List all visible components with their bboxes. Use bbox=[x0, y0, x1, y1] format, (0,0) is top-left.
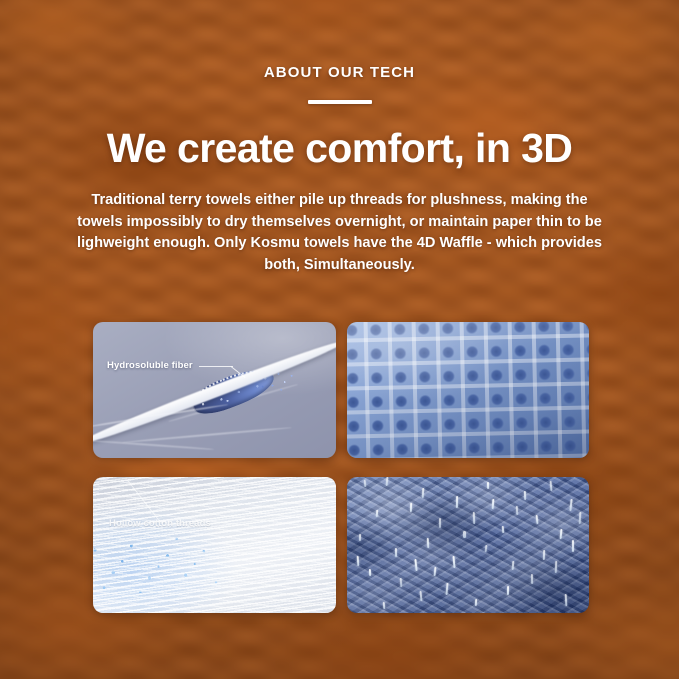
tile-hydrosoluble-fiber[interactable]: Hydrosoluble fiber bbox=[93, 322, 336, 458]
fiber-tuft bbox=[434, 567, 437, 576]
fiber-tuft bbox=[550, 481, 553, 492]
fiber-tuft bbox=[410, 503, 413, 512]
page-title: We create comfort, in 3D bbox=[0, 125, 679, 172]
fiber-tuft bbox=[560, 529, 563, 540]
tile-microfiber-tufts[interactable] bbox=[347, 477, 589, 613]
fiber-tuft bbox=[385, 477, 388, 486]
fiber-tuft bbox=[531, 574, 534, 584]
fiber-tuft bbox=[511, 561, 514, 570]
fiber-tuft bbox=[419, 591, 422, 602]
fiber-tuft bbox=[414, 559, 418, 571]
fiber-tuft bbox=[475, 599, 478, 606]
fiber-tuft bbox=[543, 550, 546, 560]
fiber-tuft bbox=[463, 531, 465, 538]
about-our-tech-section: ABOUT OUR TECH We create comfort, in 3D … bbox=[0, 0, 679, 679]
section-eyebrow: ABOUT OUR TECH bbox=[0, 64, 679, 81]
fiber-tuft bbox=[356, 556, 359, 567]
fiber-tuft bbox=[535, 515, 538, 524]
fiber-tuft bbox=[579, 512, 582, 524]
fiber-tuft bbox=[456, 496, 459, 508]
fiber-tuft bbox=[516, 505, 519, 514]
fiber-tuft bbox=[427, 538, 430, 549]
fiber-tuft bbox=[492, 499, 495, 510]
callout-label-hollow-cotton-threads: Hollow cotton threads bbox=[109, 518, 211, 529]
fiber-tuft bbox=[395, 548, 398, 557]
tile-4d-waffle-weave[interactable] bbox=[347, 322, 589, 458]
fiber-tufts bbox=[347, 477, 589, 613]
fiber-strand-wisp bbox=[122, 427, 292, 444]
callout-label-hydrosoluble-fiber: Hydrosoluble fiber bbox=[107, 360, 193, 371]
fiber-tuft bbox=[555, 561, 558, 573]
callout-leader-line bbox=[199, 366, 233, 367]
fiber-tuft bbox=[376, 510, 379, 517]
fiber-tuft bbox=[400, 578, 403, 587]
fiber-tuft bbox=[453, 556, 456, 568]
fiber-tuft bbox=[507, 586, 510, 595]
tile-hollow-cotton-threads[interactable]: Hollow cotton threads bbox=[93, 477, 336, 613]
fiber-tuft bbox=[524, 491, 527, 500]
waffle-shading bbox=[347, 322, 589, 458]
fiber-tuft bbox=[446, 583, 449, 595]
tech-image-grid: Hydrosoluble fiber Hollow cotton threads bbox=[93, 322, 589, 613]
fiber-tuft bbox=[487, 482, 490, 489]
fiber-tuft bbox=[422, 488, 425, 499]
section-paragraph: Traditional terry towels either pile up … bbox=[72, 190, 607, 276]
fiber-tuft bbox=[364, 480, 367, 487]
fiber-tuft bbox=[572, 540, 574, 552]
fiber-tuft bbox=[485, 545, 488, 552]
fiber-tuft bbox=[359, 534, 362, 541]
fiber-tuft bbox=[569, 499, 573, 511]
divider-rule bbox=[308, 100, 372, 104]
fiber-tuft bbox=[439, 518, 441, 528]
fiber-strand-wisp bbox=[93, 440, 214, 451]
fiber-tuft bbox=[369, 569, 372, 576]
fiber-tuft bbox=[473, 512, 476, 524]
fiber-tuft bbox=[564, 594, 567, 606]
fiber-tuft bbox=[383, 602, 386, 609]
cotton-top-strands bbox=[93, 477, 336, 613]
fiber-tuft bbox=[502, 526, 505, 533]
